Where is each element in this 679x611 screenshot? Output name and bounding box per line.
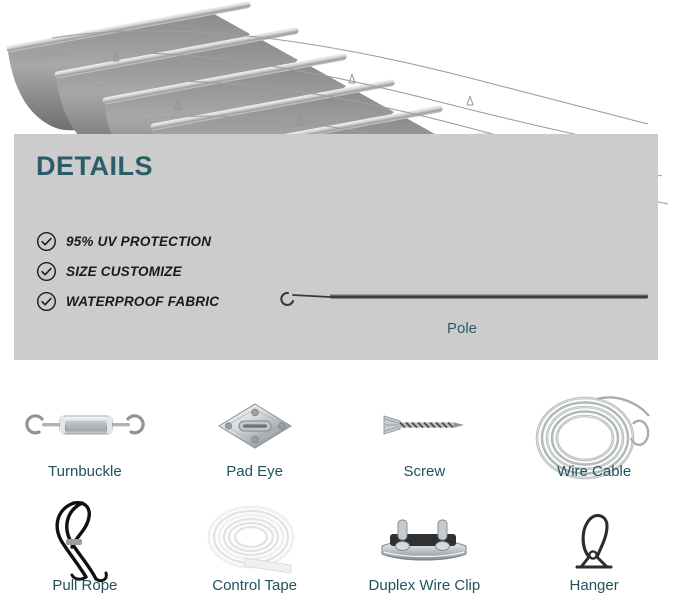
check-circle-icon xyxy=(36,231,57,252)
accessory-label: Pad Eye xyxy=(226,463,283,484)
feature-label: SIZE CUSTOMIZE xyxy=(66,264,182,279)
accessory-label: Hanger xyxy=(570,577,619,596)
feature-label: 95% UV PROTECTION xyxy=(66,234,211,249)
turnbuckle-icon xyxy=(0,389,170,463)
pull-rope-icon xyxy=(0,503,170,577)
product-detail-page: DETAILS 95% UV PROTECTION xyxy=(0,0,679,611)
accessory-item-hanger: Hanger xyxy=(509,484,679,596)
accessory-item-wire-cable: Wire Cable xyxy=(509,372,679,484)
pad-eye-icon xyxy=(170,389,340,463)
accessory-label: Screw xyxy=(404,463,446,484)
screw-icon xyxy=(340,389,510,463)
accessory-item-turnbuckle: Turnbuckle xyxy=(0,372,170,484)
accessory-label: Control Tape xyxy=(212,577,297,596)
details-panel-title: DETAILS xyxy=(36,151,153,182)
accessory-label: Turnbuckle xyxy=(48,463,122,484)
accessory-item-screw: Screw xyxy=(340,372,510,484)
feature-item: 95% UV PROTECTION xyxy=(36,226,336,256)
accessory-row: Turnbuckle xyxy=(0,372,679,484)
wire-cable-icon xyxy=(509,389,679,463)
details-panel: DETAILS 95% UV PROTECTION xyxy=(14,134,658,360)
accessory-item-control-tape: Control Tape xyxy=(170,484,340,596)
control-tape-icon xyxy=(170,503,340,577)
check-circle-icon xyxy=(36,261,57,282)
check-circle-icon xyxy=(36,291,57,312)
accessory-item-duplex-wire-clip: Duplex Wire Clip xyxy=(340,484,510,596)
hanger-icon xyxy=(509,503,679,577)
accessory-label: Pull Rope xyxy=(52,577,117,596)
pole-label: Pole xyxy=(272,320,652,337)
accessory-label: Wire Cable xyxy=(557,463,631,484)
accessory-item-pad-eye: Pad Eye xyxy=(170,372,340,484)
accessory-item-pull-rope: Pull Rope xyxy=(0,484,170,596)
duplex-wire-clip-icon xyxy=(340,503,510,577)
accessory-grid: Turnbuckle xyxy=(0,372,679,611)
feature-label: WATERPROOF FABRIC xyxy=(66,294,219,309)
accessory-row: Pull Rope xyxy=(0,484,679,596)
accessory-label: Duplex Wire Clip xyxy=(369,577,481,596)
